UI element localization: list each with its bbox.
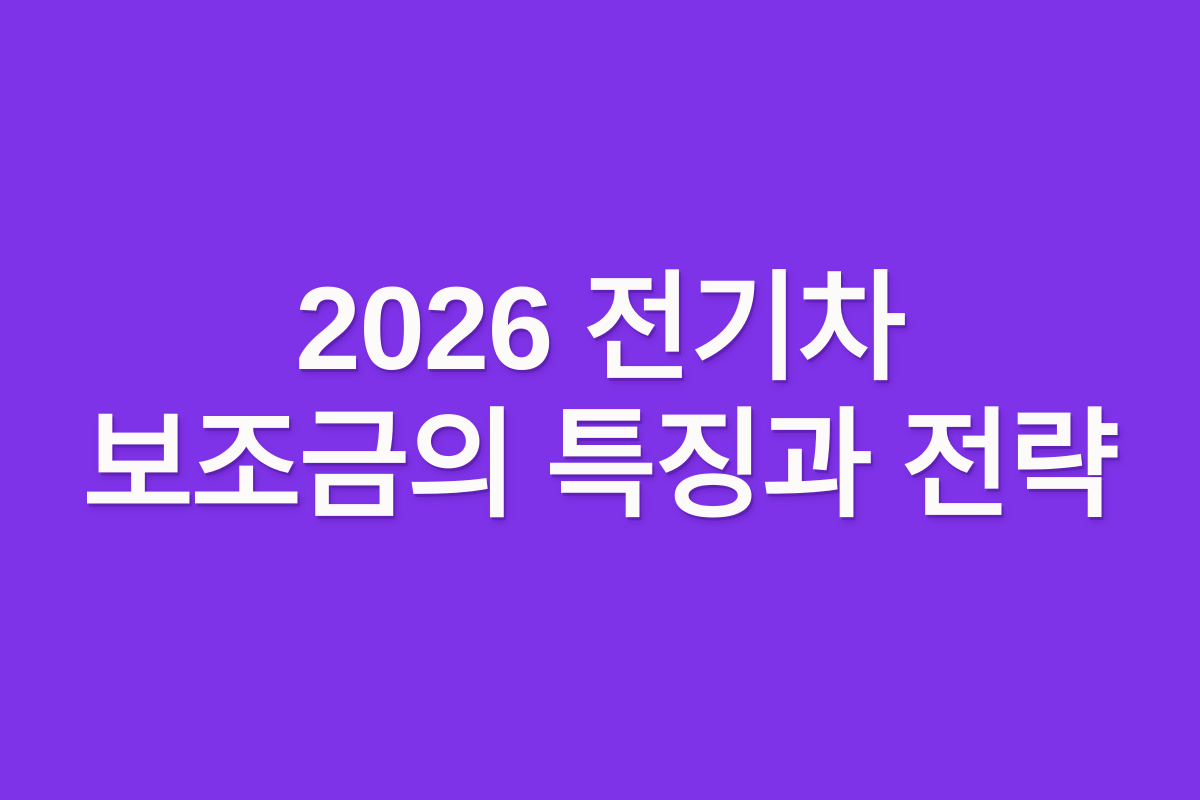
title-line-2: 보조금의 특징과 전략	[0, 398, 1200, 535]
title-line-1: 2026 전기차	[8, 261, 1192, 398]
page-title: 2026 전기차 보조금의 특징과 전략	[0, 261, 1200, 535]
banner-canvas: 2026 전기차 보조금의 특징과 전략	[0, 0, 1200, 800]
